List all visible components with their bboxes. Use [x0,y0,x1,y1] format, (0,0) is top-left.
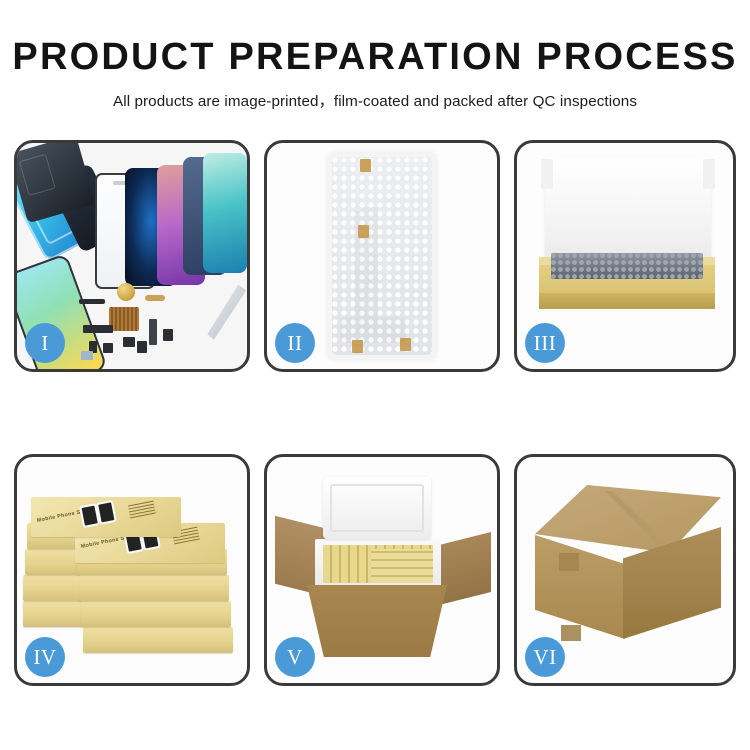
step-panel-4: Mobile Phone Spare Parts Mobile Phone Sp… [14,454,250,686]
phone-thumb [82,506,98,526]
spare-parts-group [79,285,199,367]
step-panel-5: V [264,454,500,686]
step-badge-3: III [525,323,565,363]
box-label-phone-images [82,502,115,525]
step-panel-3: III [514,140,736,372]
tape-piece [360,159,371,172]
tape-piece [352,340,363,353]
phone-thumb [98,502,114,522]
carton-body [307,585,447,657]
header: PRODUCT PREPARATION PROCESS All products… [0,0,750,111]
stacked-box [83,627,233,653]
tape-piece [400,338,411,351]
carton-tape-patch [561,625,581,641]
step-panel-1: I [14,140,250,372]
carton-left-face [535,535,625,639]
bubble-wrap-bag [328,153,436,359]
stacked-box [79,575,229,601]
logic-board-chip [109,307,139,331]
speaker-module-icon [117,283,135,301]
step-badge-4: IV [25,637,65,677]
step-badge-5: V [275,637,315,677]
stacked-box-labelled: Mobile Phone Spare Parts [31,497,181,537]
box-label-specs [128,501,156,521]
step-badge-1: I [25,323,65,363]
yellow-boxes-row [371,549,433,583]
infographic-page: PRODUCT PREPARATION PROCESS All products… [0,0,750,750]
phone-display-teal [203,153,247,273]
step-panel-2: II [264,140,500,372]
page-title: PRODUCT PREPARATION PROCESS [0,38,750,78]
bubble-texture [332,157,432,355]
stacked-box [81,601,231,627]
page-subtitle: All products are image-printed，film-coat… [0,89,750,111]
tweezers-tool [203,281,247,343]
carton-tape-patch [559,553,579,571]
step-badge-2: II [275,323,315,363]
process-step-grid: I II [14,140,736,686]
step-panel-6: VI [514,454,736,686]
foam-lid-open [323,477,431,539]
yellow-box-front-panel [539,293,715,309]
bubble-wrapped-contents [551,253,703,279]
step-badge-6: VI [525,637,565,677]
tape-piece [358,225,369,238]
